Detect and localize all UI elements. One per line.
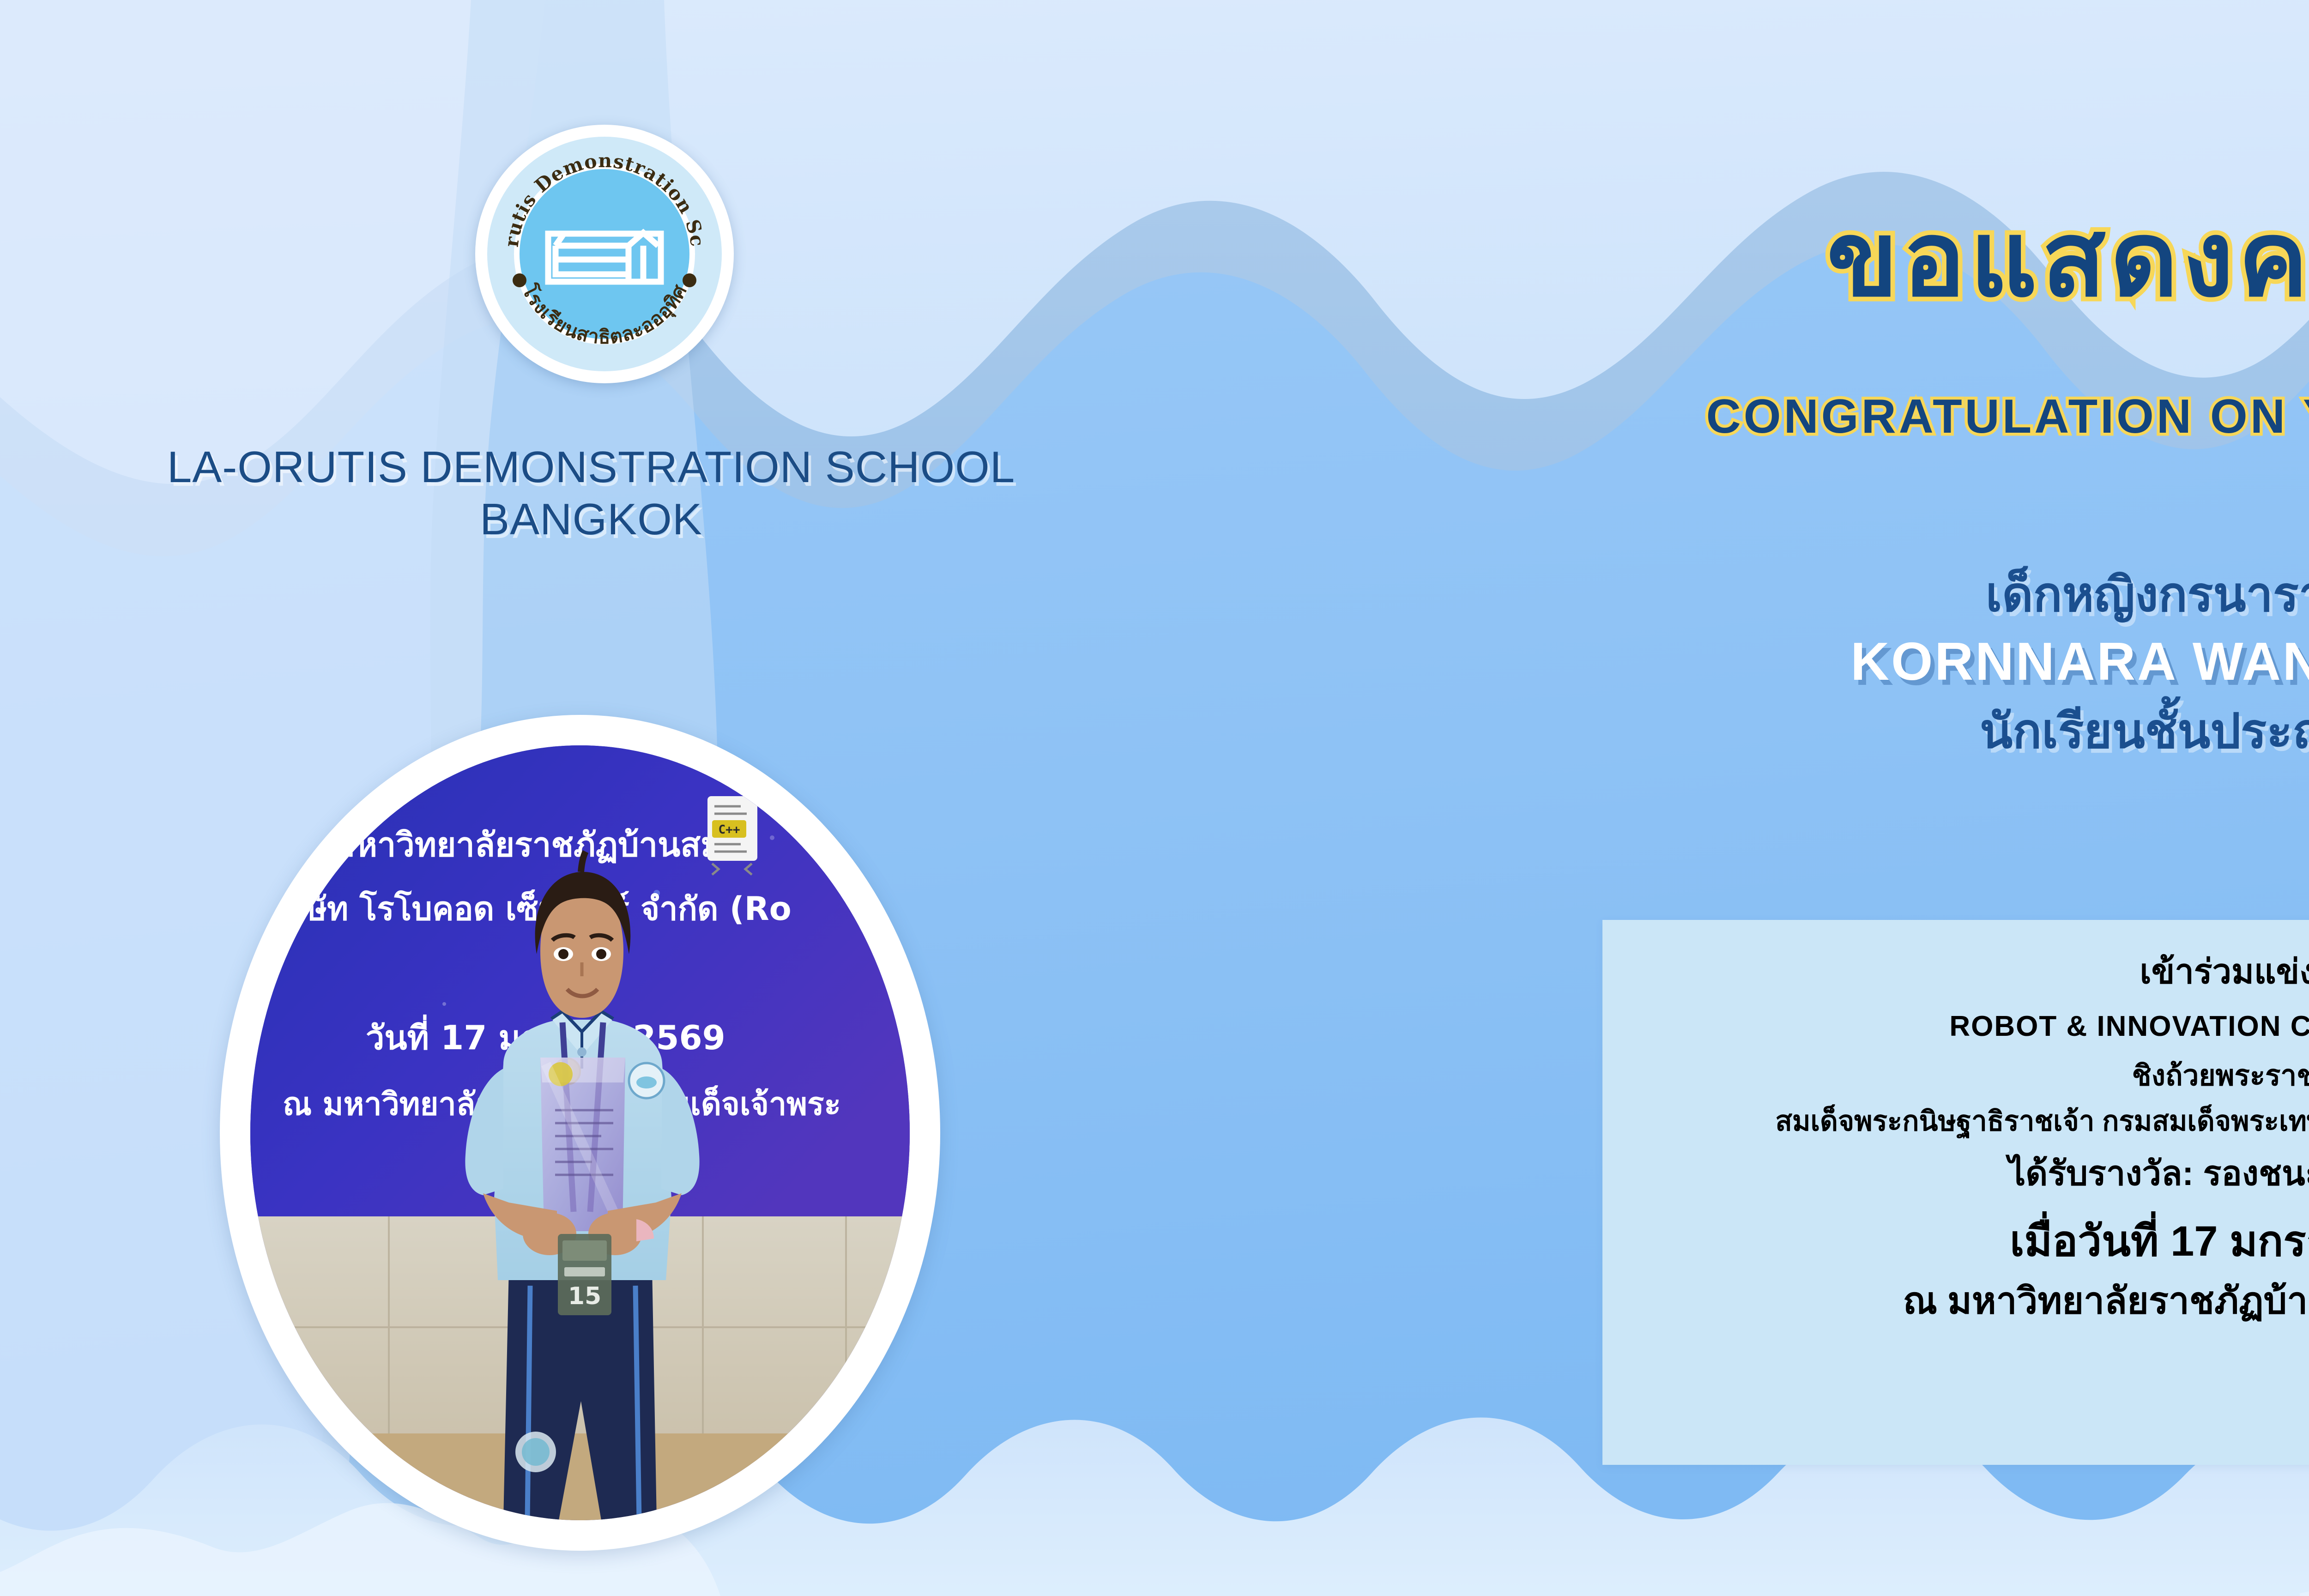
- student-name-thai: เด็กหญิงกรนารา หวังวรพันธุ์: [1515, 571, 2309, 619]
- detail-royal-title: สมเด็จพระกนิษฐาธิราชเจ้า กรมสมเด็จพระเทพ…: [1602, 1106, 2309, 1137]
- student-grade-thai: นักเรียนชั้นประถมศึกษาปีที่ 2: [1515, 707, 2309, 756]
- svg-text:C++: C++: [719, 823, 740, 837]
- glass-trophy: [540, 1058, 625, 1231]
- logo-arc-top-text: La-orutis Demonstration School: [475, 125, 709, 248]
- school-logo-seal: La-orutis Demonstration School โรงเรียนส…: [475, 125, 734, 383]
- student-name-english: KORNNARA WANGWORAPHAN: [1515, 635, 2309, 688]
- school-name-block: LA-ORUTIS DEMONSTRATION SCHOOL BANGKOK: [0, 441, 1182, 546]
- svg-text:โรงเรียนสาธิตละอออุทิศ: โรงเรียนสาธิตละอออุทิศ: [518, 280, 692, 348]
- student-photo-illustration: มหาวิทยาลัยราชภัฏบ้านสม ษัท โรโบคอด เซ็น…: [250, 745, 910, 1520]
- congratulation-title-english: CONGRATULATION ON YOUR ACHIEVEMENT: [1515, 393, 2309, 441]
- logo-right-dot-icon: [683, 273, 696, 287]
- congratulation-column: ขอแสดงความยินดี CONGRATULATION ON YOUR A…: [1515, 0, 2309, 1596]
- student-photo-frame: มหาวิทยาลัยราชภัฏบ้านสม ษัท โรโบคอด เซ็น…: [220, 715, 940, 1551]
- school-name-line-1: LA-ORUTIS DEMONSTRATION SCHOOL: [0, 441, 1182, 493]
- detail-participation: เข้าร่วมแข่งขัน: [1602, 953, 2309, 990]
- id-badge: 15: [558, 1234, 611, 1315]
- logo-left-dot-icon: [513, 273, 526, 287]
- photo-backdrop-line-1: มหาวิทยาลัยราชภัฏบ้านสม: [333, 825, 723, 864]
- detail-competition-name: ROBOT & INNOVATION CHALLENGE 2026: [1602, 1011, 2309, 1042]
- congratulation-title-thai: ขอแสดงความยินดี: [1515, 207, 2309, 311]
- detail-award-result: ได้รับรางวัล: รองชนะเลิศอันดับ 2: [1602, 1155, 2309, 1192]
- certificate-canvas: La-orutis Demonstration School โรงเรียนส…: [0, 0, 2309, 1596]
- school-identity-column: La-orutis Demonstration School โรงเรียนส…: [0, 0, 1515, 1596]
- svg-text:La-orutis Demonstration School: La-orutis Demonstration School: [475, 125, 709, 248]
- logo-circular-text: La-orutis Demonstration School โรงเรียนส…: [475, 125, 734, 383]
- badge-number: 15: [568, 1282, 601, 1310]
- logo-arc-bottom-text: โรงเรียนสาธิตละอออุทิศ: [518, 280, 692, 348]
- school-name-line-2: BANGKOK: [0, 493, 1182, 545]
- detail-event-date: เมื่อวันที่ 17 มกราคม 2569: [1602, 1219, 2309, 1264]
- student-photo: มหาวิทยาลัยราชภัฏบ้านสม ษัท โรโบคอด เซ็น…: [250, 745, 910, 1520]
- award-details-panel: เข้าร่วมแข่งขัน ROBOT & INNOVATION CHALL…: [1602, 920, 2309, 1465]
- detail-trophy: ชิงถ้วยพระราชทาน: [1602, 1061, 2309, 1092]
- detail-event-venue: ณ มหาวิทยาลัยราชภัฏบ้านสมเด็จเจ้าพระยา: [1602, 1281, 2309, 1321]
